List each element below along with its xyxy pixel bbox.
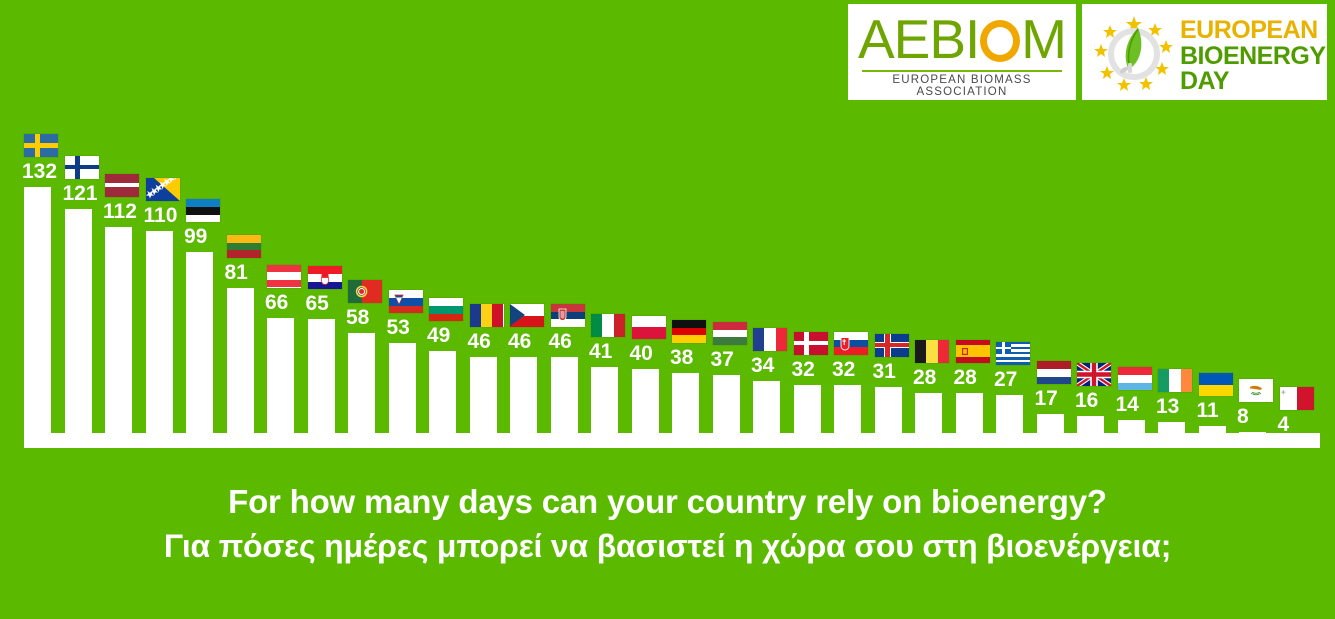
bar-group: 58 <box>348 120 388 448</box>
bar <box>146 231 173 449</box>
bar-value-label: 41 <box>589 340 631 364</box>
bar-group: 99 <box>186 120 226 448</box>
bar-group: 34 <box>753 120 793 448</box>
bar <box>186 252 213 448</box>
bar-value-label: 65 <box>306 292 348 316</box>
flag-ie-icon <box>1158 369 1192 392</box>
aebiom-divider <box>862 70 1062 72</box>
bar-value-label: 112 <box>103 200 145 224</box>
bar-value-label: 32 <box>832 358 874 382</box>
aebiom-wordmark-post: M <box>1021 12 1066 67</box>
aebiom-wordmark-pre: AEBI <box>858 12 979 67</box>
flag-de-icon <box>672 320 706 343</box>
bar <box>227 288 254 448</box>
bar-group: 31 <box>875 120 915 448</box>
bar-value-label: 16 <box>1075 389 1117 413</box>
bar-value-label: 31 <box>873 360 915 384</box>
bar-value-label: 11 <box>1197 399 1239 423</box>
bar-value-label: 34 <box>751 354 793 378</box>
aebiom-logo: AEBIM EUROPEAN BIOMASS ASSOCIATION <box>848 4 1076 100</box>
bar-value-label: 53 <box>387 316 429 340</box>
flag-lt-icon <box>227 235 261 258</box>
bar-group: 27 <box>996 120 1036 448</box>
bar-group: 66 <box>267 120 307 448</box>
bar-value-label: 46 <box>508 330 550 354</box>
flag-gb-icon <box>1077 363 1111 386</box>
bar-group: 40 <box>632 120 672 448</box>
bar-group: 16 <box>1077 120 1117 448</box>
flag-gr-icon <box>996 342 1030 365</box>
flag-ua-icon <box>1199 373 1233 396</box>
bar-value-label: 27 <box>994 368 1036 392</box>
bar-value-label: 58 <box>346 306 388 330</box>
bar-group: 11 <box>1199 120 1239 448</box>
flag-be-icon <box>915 340 949 363</box>
bar <box>348 333 375 448</box>
flag-bg-icon <box>429 298 463 321</box>
bar-value-label: 66 <box>265 291 307 315</box>
bar-group: 32 <box>834 120 874 448</box>
bar-value-label: 28 <box>913 366 955 390</box>
flag-it-icon <box>591 314 625 337</box>
flag-es-icon <box>956 340 990 363</box>
flag-at-icon <box>267 265 301 288</box>
aebiom-wordmark: AEBIM <box>858 8 1066 70</box>
bar-group: 38 <box>672 120 712 448</box>
bar-group: 46 <box>510 120 550 448</box>
caption-greek: Για πόσες ημέρες μπορεί να βασιστεί η χώ… <box>0 525 1335 568</box>
bar-group: 46 <box>470 120 510 448</box>
flag-rs-icon <box>551 304 585 327</box>
bar-group: 53 <box>389 120 429 448</box>
bar-value-label: 46 <box>549 330 591 354</box>
flag-lv-icon <box>105 174 139 197</box>
bar-value-label: 99 <box>184 225 226 249</box>
bar-value-label: 17 <box>1035 387 1077 411</box>
leaf-and-stars-icon <box>1094 12 1174 92</box>
flag-lu-icon <box>1118 367 1152 390</box>
bar-value-label: 40 <box>630 342 672 366</box>
bar <box>308 319 335 448</box>
flag-fr-icon <box>753 328 787 351</box>
bar-value-label: 37 <box>711 348 753 372</box>
bar-value-label: 14 <box>1116 393 1158 417</box>
bar-group: 28 <box>915 120 955 448</box>
bar-group: 49 <box>429 120 469 448</box>
bar-group: 28 <box>956 120 996 448</box>
bar-group: 46 <box>551 120 591 448</box>
bar-group: 132 <box>24 120 64 448</box>
bar <box>65 209 92 448</box>
bar <box>267 318 294 449</box>
flag-si-icon <box>389 290 423 313</box>
flag-nl-icon <box>1037 361 1071 384</box>
flag-dk-icon <box>794 332 828 355</box>
bar-group: 110 <box>146 120 186 448</box>
ebd-line-1: EUROPEAN <box>1180 18 1326 44</box>
flag-hr-icon <box>308 266 342 289</box>
bar-group: 41 <box>591 120 631 448</box>
bar <box>24 187 51 448</box>
bar-group: 37 <box>713 120 753 448</box>
bar-series: 1321211121109981666558534946464641403837… <box>0 105 1335 448</box>
flag-pl-icon <box>632 316 666 339</box>
bar-value-label: 81 <box>225 261 267 285</box>
flag-is-icon <box>875 334 909 357</box>
bar-group: 14 <box>1118 120 1158 448</box>
bar-group: 81 <box>227 120 267 448</box>
ebd-line-2: BIOENERGY <box>1180 44 1326 70</box>
bar-value-label: 28 <box>954 366 996 390</box>
flag-sk-icon <box>834 332 868 355</box>
bar-value-label: 132 <box>22 160 64 184</box>
bar-value-label: 32 <box>792 358 834 382</box>
bar-value-label: 46 <box>468 330 510 354</box>
european-bioenergy-day-wordmark: EUROPEAN BIOENERGY DAY <box>1180 18 1326 95</box>
flag-ba-icon <box>146 178 180 201</box>
flag-hu-icon <box>713 322 747 345</box>
flag-mt-icon <box>1280 387 1314 410</box>
bar-value-label: 110 <box>144 204 186 228</box>
flag-ee-icon <box>186 199 220 222</box>
flag-cy-icon <box>1239 379 1273 402</box>
bar-group: 32 <box>794 120 834 448</box>
european-bioenergy-day-logo: EUROPEAN BIOENERGY DAY <box>1082 4 1327 100</box>
flag-ro-icon <box>470 304 504 327</box>
bar-group: 65 <box>308 120 348 448</box>
flag-pt-icon <box>348 280 382 303</box>
flag-se-icon <box>24 134 58 157</box>
bar-group: 121 <box>65 120 105 448</box>
bar-value-label: 13 <box>1156 395 1198 419</box>
ebd-line-3: DAY <box>1180 69 1326 95</box>
bar-group: 4 <box>1280 120 1320 448</box>
bar-group: 112 <box>105 120 145 448</box>
bar-group: 17 <box>1037 120 1077 448</box>
bar-value-label: 8 <box>1237 405 1279 429</box>
caption-english: For how many days can your country rely … <box>0 480 1335 525</box>
bar-group: 13 <box>1158 120 1198 448</box>
aebiom-tagline: EUROPEAN BIOMASS ASSOCIATION <box>848 74 1076 98</box>
flag-cz-icon <box>510 304 544 327</box>
chart-baseline-axis <box>24 433 1320 448</box>
bar-value-label: 49 <box>427 324 469 348</box>
bioenergy-days-bar-chart: 1321211121109981666558534946464641403837… <box>0 105 1335 460</box>
bar <box>105 227 132 448</box>
flag-fi-icon <box>65 156 99 179</box>
bar-value-label: 38 <box>670 346 712 370</box>
bar-value-label: 121 <box>63 182 105 206</box>
caption-block: For how many days can your country rely … <box>0 480 1335 568</box>
logo-bar: AEBIM EUROPEAN BIOMASS ASSOCIATION <box>848 4 1327 100</box>
bar-group: 8 <box>1239 120 1279 448</box>
aebiom-o-ring-icon <box>980 20 1020 62</box>
